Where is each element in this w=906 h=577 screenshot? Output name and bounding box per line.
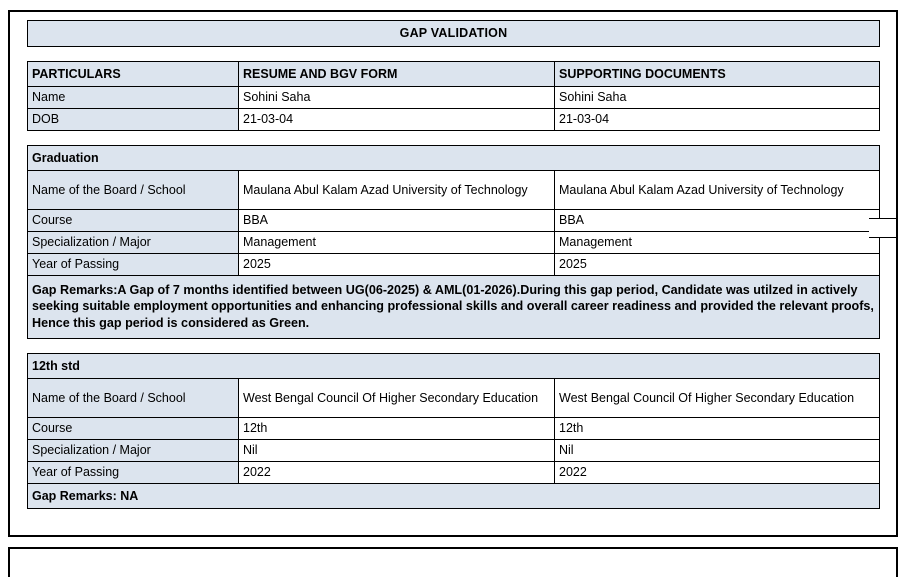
column-header-resume: RESUME AND BGV FORM — [239, 62, 555, 87]
row-value-course-twelfth-supporting: 12th — [555, 418, 880, 440]
table-row: DOB 21-03-04 21-03-04 — [28, 109, 880, 131]
title-row: GAP VALIDATION — [28, 21, 880, 47]
row-value-year-graduation-supporting: 2025 — [555, 254, 880, 276]
row-label-name: Name — [28, 87, 239, 109]
column-header-particulars: PARTICULARS — [28, 62, 239, 87]
gap-remarks-twelfth: Gap Remarks: NA — [28, 484, 880, 509]
row-value-dob-resume: 21-03-04 — [239, 109, 555, 131]
row-label-specialization-graduation: Specialization / Major — [28, 232, 239, 254]
section-header-graduation-row: Graduation — [28, 146, 880, 171]
table-row: Specialization / Major Nil Nil — [28, 440, 880, 462]
document-page-frame: GAP VALIDATION PARTICULARS RESUME AND BG… — [8, 10, 898, 537]
table-row: Name of the Board / School West Bengal C… — [28, 379, 880, 418]
section-header-twelfth: 12th std — [28, 354, 880, 379]
row-value-name-supporting: Sohini Saha — [555, 87, 880, 109]
gap-remarks-graduation: Gap Remarks:A Gap of 7 months identified… — [28, 276, 880, 339]
spacer — [28, 47, 880, 62]
document-body: GAP VALIDATION PARTICULARS RESUME AND BG… — [27, 20, 879, 509]
page-title: GAP VALIDATION — [28, 21, 880, 47]
stray-table-cell-artifact — [869, 218, 897, 238]
row-value-specialization-graduation-resume: Management — [239, 232, 555, 254]
gap-remarks-twelfth-row: Gap Remarks: NA — [28, 484, 880, 509]
row-value-specialization-twelfth-resume: Nil — [239, 440, 555, 462]
row-value-board-graduation-resume: Maulana Abul Kalam Azad University of Te… — [239, 171, 555, 210]
table-row: Name of the Board / School Maulana Abul … — [28, 171, 880, 210]
row-label-specialization-twelfth: Specialization / Major — [28, 440, 239, 462]
table-row: Year of Passing 2022 2022 — [28, 462, 880, 484]
next-page-frame — [8, 547, 898, 577]
row-value-name-resume: Sohini Saha — [239, 87, 555, 109]
row-value-course-twelfth-resume: 12th — [239, 418, 555, 440]
row-value-year-twelfth-supporting: 2022 — [555, 462, 880, 484]
table-row: Course 12th 12th — [28, 418, 880, 440]
column-header-row: PARTICULARS RESUME AND BGV FORM SUPPORTI… — [28, 62, 880, 87]
row-label-course-graduation: Course — [28, 210, 239, 232]
row-value-year-twelfth-resume: 2022 — [239, 462, 555, 484]
row-value-specialization-twelfth-supporting: Nil — [555, 440, 880, 462]
row-value-dob-supporting: 21-03-04 — [555, 109, 880, 131]
gap-validation-table: GAP VALIDATION PARTICULARS RESUME AND BG… — [27, 20, 880, 509]
spacer — [28, 131, 880, 146]
table-row: Course BBA BBA — [28, 210, 880, 232]
row-label-year-graduation: Year of Passing — [28, 254, 239, 276]
table-row: Name Sohini Saha Sohini Saha — [28, 87, 880, 109]
section-header-twelfth-row: 12th std — [28, 354, 880, 379]
row-value-course-graduation-supporting: BBA — [555, 210, 880, 232]
row-value-board-graduation-supporting: Maulana Abul Kalam Azad University of Te… — [555, 171, 880, 210]
column-header-supporting: SUPPORTING DOCUMENTS — [555, 62, 880, 87]
spacer — [28, 339, 880, 354]
table-row: Year of Passing 2025 2025 — [28, 254, 880, 276]
row-label-board-twelfth: Name of the Board / School — [28, 379, 239, 418]
table-row: Specialization / Major Management Manage… — [28, 232, 880, 254]
row-value-course-graduation-resume: BBA — [239, 210, 555, 232]
section-header-graduation: Graduation — [28, 146, 880, 171]
row-label-year-twelfth: Year of Passing — [28, 462, 239, 484]
row-label-board-graduation: Name of the Board / School — [28, 171, 239, 210]
row-value-specialization-graduation-supporting: Management — [555, 232, 880, 254]
row-value-board-twelfth-resume: West Bengal Council Of Higher Secondary … — [239, 379, 555, 418]
gap-remarks-graduation-row: Gap Remarks:A Gap of 7 months identified… — [28, 276, 880, 339]
row-label-course-twelfth: Course — [28, 418, 239, 440]
row-label-dob: DOB — [28, 109, 239, 131]
row-value-board-twelfth-supporting: West Bengal Council Of Higher Secondary … — [555, 379, 880, 418]
row-value-year-graduation-resume: 2025 — [239, 254, 555, 276]
